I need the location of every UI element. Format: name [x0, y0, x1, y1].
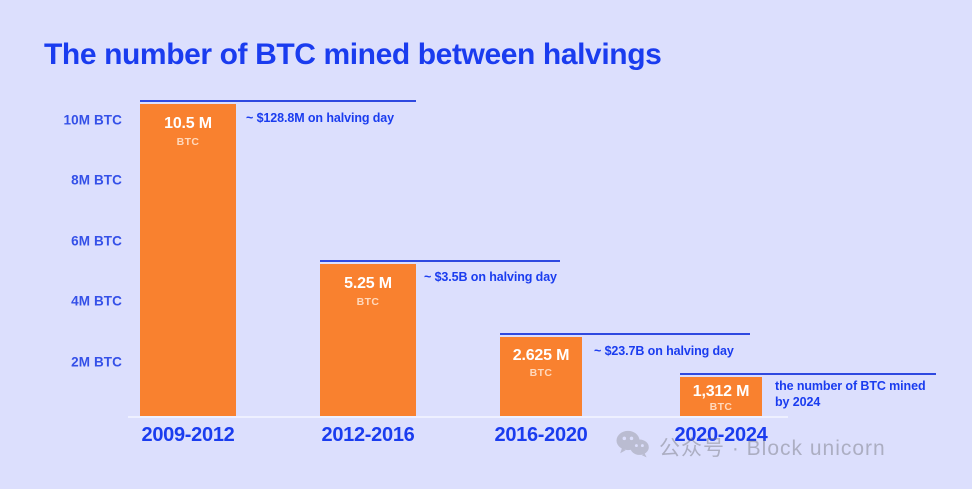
bar-unit-label: BTC	[320, 297, 416, 308]
plot-area: 10.5 M BTC ~ $128.8M on halving day 5.25…	[0, 0, 972, 489]
bar-unit-label: BTC	[680, 402, 762, 413]
bar-2016-2020[interactable]: 2.625 M BTC	[500, 337, 582, 416]
x-tick-label-2020-2024: 2020-2024	[661, 424, 781, 447]
bar-value-label: 10.5 M	[140, 116, 236, 132]
x-tick-label-2012-2016: 2012-2016	[308, 424, 428, 447]
bar-2012-2016[interactable]: 5.25 M BTC	[320, 264, 416, 416]
annotation-rule	[140, 100, 416, 102]
bar-value-label: 1,312 M	[680, 384, 762, 400]
annotation-text: ~ $23.7B on halving day	[594, 344, 734, 360]
annotation-text: ~ $3.5B on halving day	[424, 270, 557, 286]
annotation-text: the number of BTC mined by 2024	[775, 379, 925, 410]
bar-2009-2012[interactable]: 10.5 M BTC	[140, 104, 236, 416]
chart-canvas: The number of BTC mined between halvings…	[0, 0, 972, 489]
annotation-rule	[500, 333, 750, 335]
annotation-rule	[320, 260, 560, 262]
annotation-text: ~ $128.8M on halving day	[246, 111, 394, 127]
bar-unit-label: BTC	[500, 368, 582, 379]
bar-unit-label: BTC	[140, 137, 236, 148]
x-tick-label-2009-2012: 2009-2012	[128, 424, 248, 447]
axis-baseline	[128, 416, 788, 418]
bar-2020-2024[interactable]: 1,312 M BTC	[680, 377, 762, 416]
bar-value-label: 2.625 M	[500, 348, 582, 364]
x-tick-label-2016-2020: 2016-2020	[481, 424, 601, 447]
bar-value-label: 5.25 M	[320, 276, 416, 292]
annotation-rule	[680, 373, 936, 375]
